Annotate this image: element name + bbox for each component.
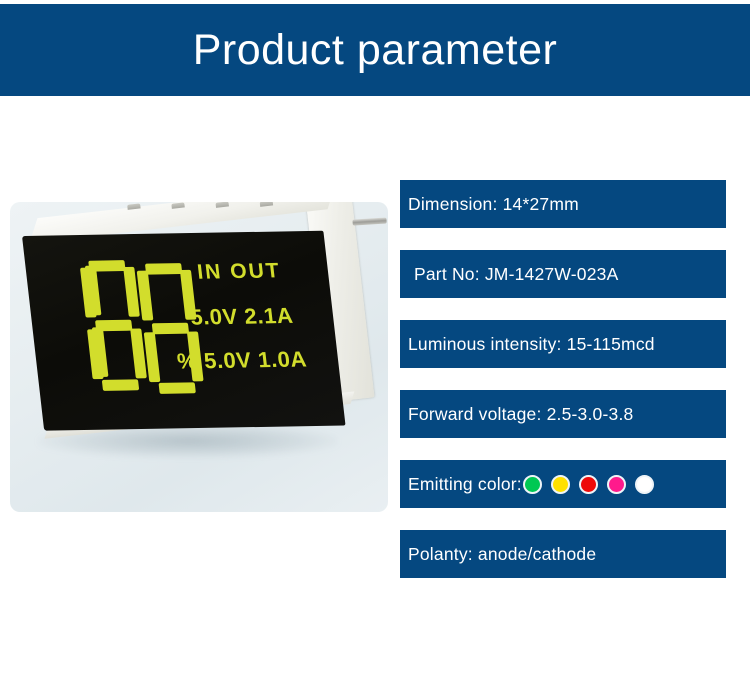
- segment-d: [159, 382, 196, 394]
- segment-a: [88, 260, 125, 272]
- spec-row-polarity: Polanty: anode/cathode: [400, 530, 726, 578]
- segment-e: [144, 332, 161, 382]
- led-display-module: IN OUT 5.0V 2.1A % 5.0V 1.0A: [22, 202, 372, 431]
- spec-row-emitting-color: Emitting color:: [400, 460, 726, 508]
- spec-label-polarity: Polanty: anode/cathode: [408, 544, 596, 565]
- spec-label-emitting-color: Emitting color:: [408, 474, 522, 495]
- spec-label-forward-voltage: Forward voltage: 2.5-3.0-3.8: [408, 404, 633, 425]
- spec-label-part-no: Part No: JM-1427W-023A: [414, 264, 618, 285]
- spec-row-forward-voltage: Forward voltage: 2.5-3.0-3.8: [400, 390, 726, 438]
- spec-row-luminous-intensity: Luminous intensity: 15-115mcd: [400, 320, 726, 368]
- color-swatch-white: [635, 475, 654, 494]
- color-swatch-pink: [607, 475, 626, 494]
- spec-row-dimension: Dimension: 14*27mm: [400, 180, 726, 228]
- segment-a: [145, 263, 182, 275]
- display-label-input-rating: 5.0V 2.1A: [189, 303, 295, 331]
- segment-e: [87, 329, 104, 379]
- segment-f: [80, 268, 97, 318]
- color-swatch-green: [523, 475, 542, 494]
- color-swatch-red: [579, 475, 598, 494]
- spec-label-dimension: Dimension: 14*27mm: [408, 194, 579, 215]
- segment-f: [137, 271, 154, 321]
- spec-label-luminous-intensity: Luminous intensity: 15-115mcd: [408, 334, 655, 355]
- page-title: Product parameter: [193, 29, 558, 72]
- header-banner: Product parameter: [0, 4, 750, 96]
- display-face: IN OUT 5.0V 2.1A % 5.0V 1.0A: [22, 231, 346, 431]
- segment-d: [102, 379, 139, 391]
- side-pin: [352, 218, 386, 226]
- spec-row-part-no: Part No: JM-1427W-023A: [400, 250, 726, 298]
- segment-g: [152, 323, 189, 335]
- display-label-in-out: IN OUT: [196, 259, 282, 284]
- color-swatch-yellow: [551, 475, 570, 494]
- spec-list: Dimension: 14*27mm Part No: JM-1427W-023…: [400, 180, 726, 600]
- product-photo: IN OUT 5.0V 2.1A % 5.0V 1.0A: [10, 202, 388, 512]
- display-label-output-rating: % 5.0V 1.0A: [176, 347, 309, 375]
- segment-g: [95, 320, 132, 332]
- emitting-color-swatches: [523, 475, 654, 494]
